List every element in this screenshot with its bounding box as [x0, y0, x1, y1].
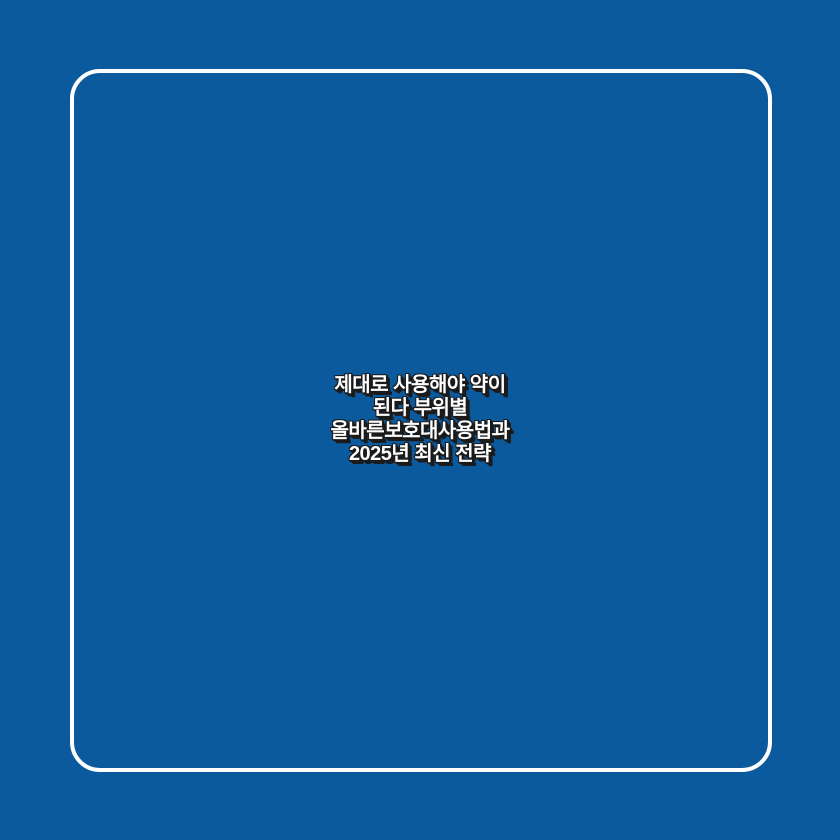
headline-line-4: 2025년 최신 전략	[56, 443, 784, 466]
headline-line-3: 올바른보호대사용법과	[56, 420, 784, 443]
headline-text-block: 제대로 사용해야 약이 된다 부위별 올바른보호대사용법과 2025년 최신 전…	[0, 374, 840, 466]
headline-line-2: 된다 부위별	[56, 397, 784, 420]
headline-line-1: 제대로 사용해야 약이	[56, 374, 784, 397]
poster-canvas: 제대로 사용해야 약이 된다 부위별 올바른보호대사용법과 2025년 최신 전…	[0, 0, 840, 840]
